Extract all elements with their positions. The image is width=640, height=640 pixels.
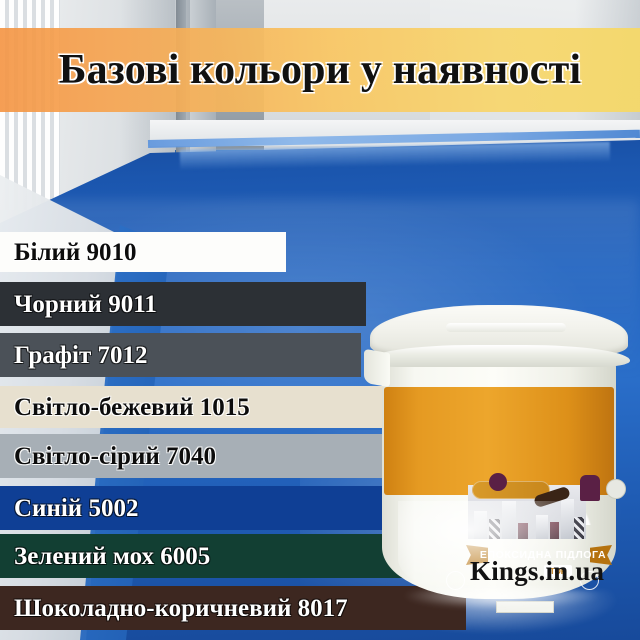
color-band-graphite[interactable]: Графіт 7012 [0, 333, 361, 377]
color-band-label: Білий 9010 [0, 240, 137, 265]
color-band-label: Чорний 9011 [0, 292, 157, 317]
color-band-label: Графіт 7012 [0, 343, 148, 368]
color-band-label: Синій 5002 [0, 496, 138, 521]
color-band-white[interactable]: Білий 9010 [0, 232, 286, 272]
bucket-base-shadow [402, 587, 602, 609]
bucket-lid-ridge [446, 323, 566, 332]
bucket-label: ЕПОКСИДНА ПІДЛОГА TOP [384, 387, 614, 495]
poster: Базові кольори у наявності Білий 9010 Чо… [0, 0, 640, 640]
color-band-label: Шоколадно-коричневий 8017 [0, 596, 348, 621]
label-worker-icon [580, 475, 600, 501]
color-band-blue[interactable]: Синій 5002 [0, 486, 431, 530]
label-round-badge [489, 473, 507, 491]
color-band-black[interactable]: Чорний 9011 [0, 282, 366, 326]
color-band-label: Світло-бежевий 1015 [0, 395, 250, 420]
bucket-handle-tab [364, 349, 390, 388]
label-eu-badge [606, 479, 626, 499]
watermark: Kings.in.ua [470, 556, 604, 587]
color-band-label: Світло-сірий 7040 [0, 444, 216, 469]
bucket-lid-lip [368, 345, 630, 367]
color-band-label: Зелений мох 6005 [0, 544, 210, 569]
